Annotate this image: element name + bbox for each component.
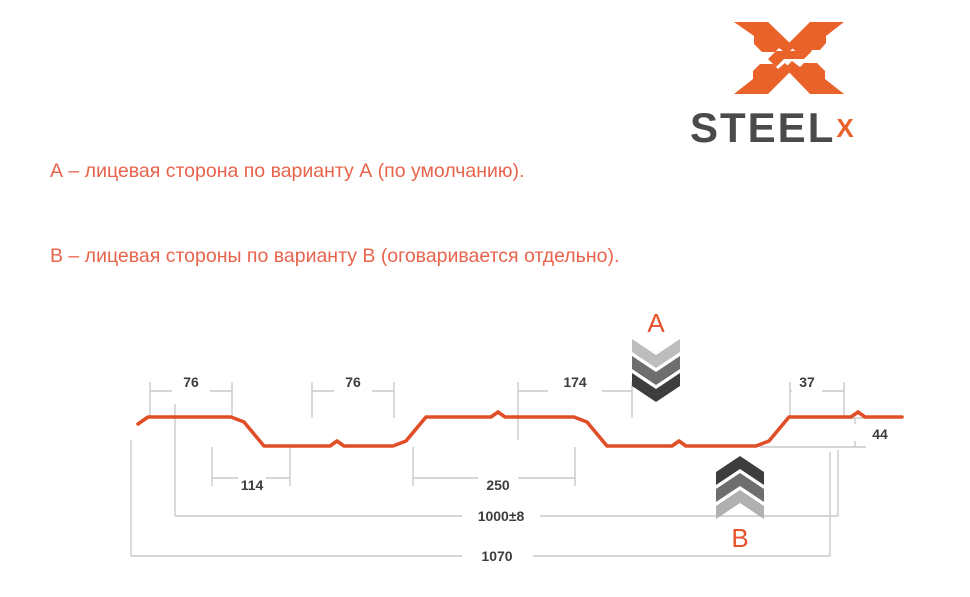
dimension-label-174: 174 (563, 374, 587, 390)
face-marker-b: В (716, 456, 764, 553)
dimension-label-1000: 1000±8 (478, 508, 525, 524)
dimension-label-37: 37 (799, 374, 815, 390)
drawing-sheet: STEEL X А – лицевая сторона по варианту … (0, 0, 970, 597)
dimension-labels: 76 76 174 37 114 250 44 1000±8 1070 (183, 374, 888, 564)
face-marker-b-letter: В (731, 523, 748, 553)
profile-cross-section-drawing: 76 76 174 37 114 250 44 1000±8 1070 А В (0, 0, 970, 597)
face-marker-a: А (632, 308, 680, 402)
dimension-label-250: 250 (486, 477, 510, 493)
face-marker-a-letter: А (647, 308, 665, 338)
dimension-label-76-a: 76 (183, 374, 199, 390)
dimension-label-44: 44 (872, 426, 888, 442)
dimension-label-1070: 1070 (481, 548, 512, 564)
dimension-label-114: 114 (241, 477, 264, 493)
dimension-label-76-b: 76 (345, 374, 361, 390)
profile-outline (138, 412, 902, 446)
